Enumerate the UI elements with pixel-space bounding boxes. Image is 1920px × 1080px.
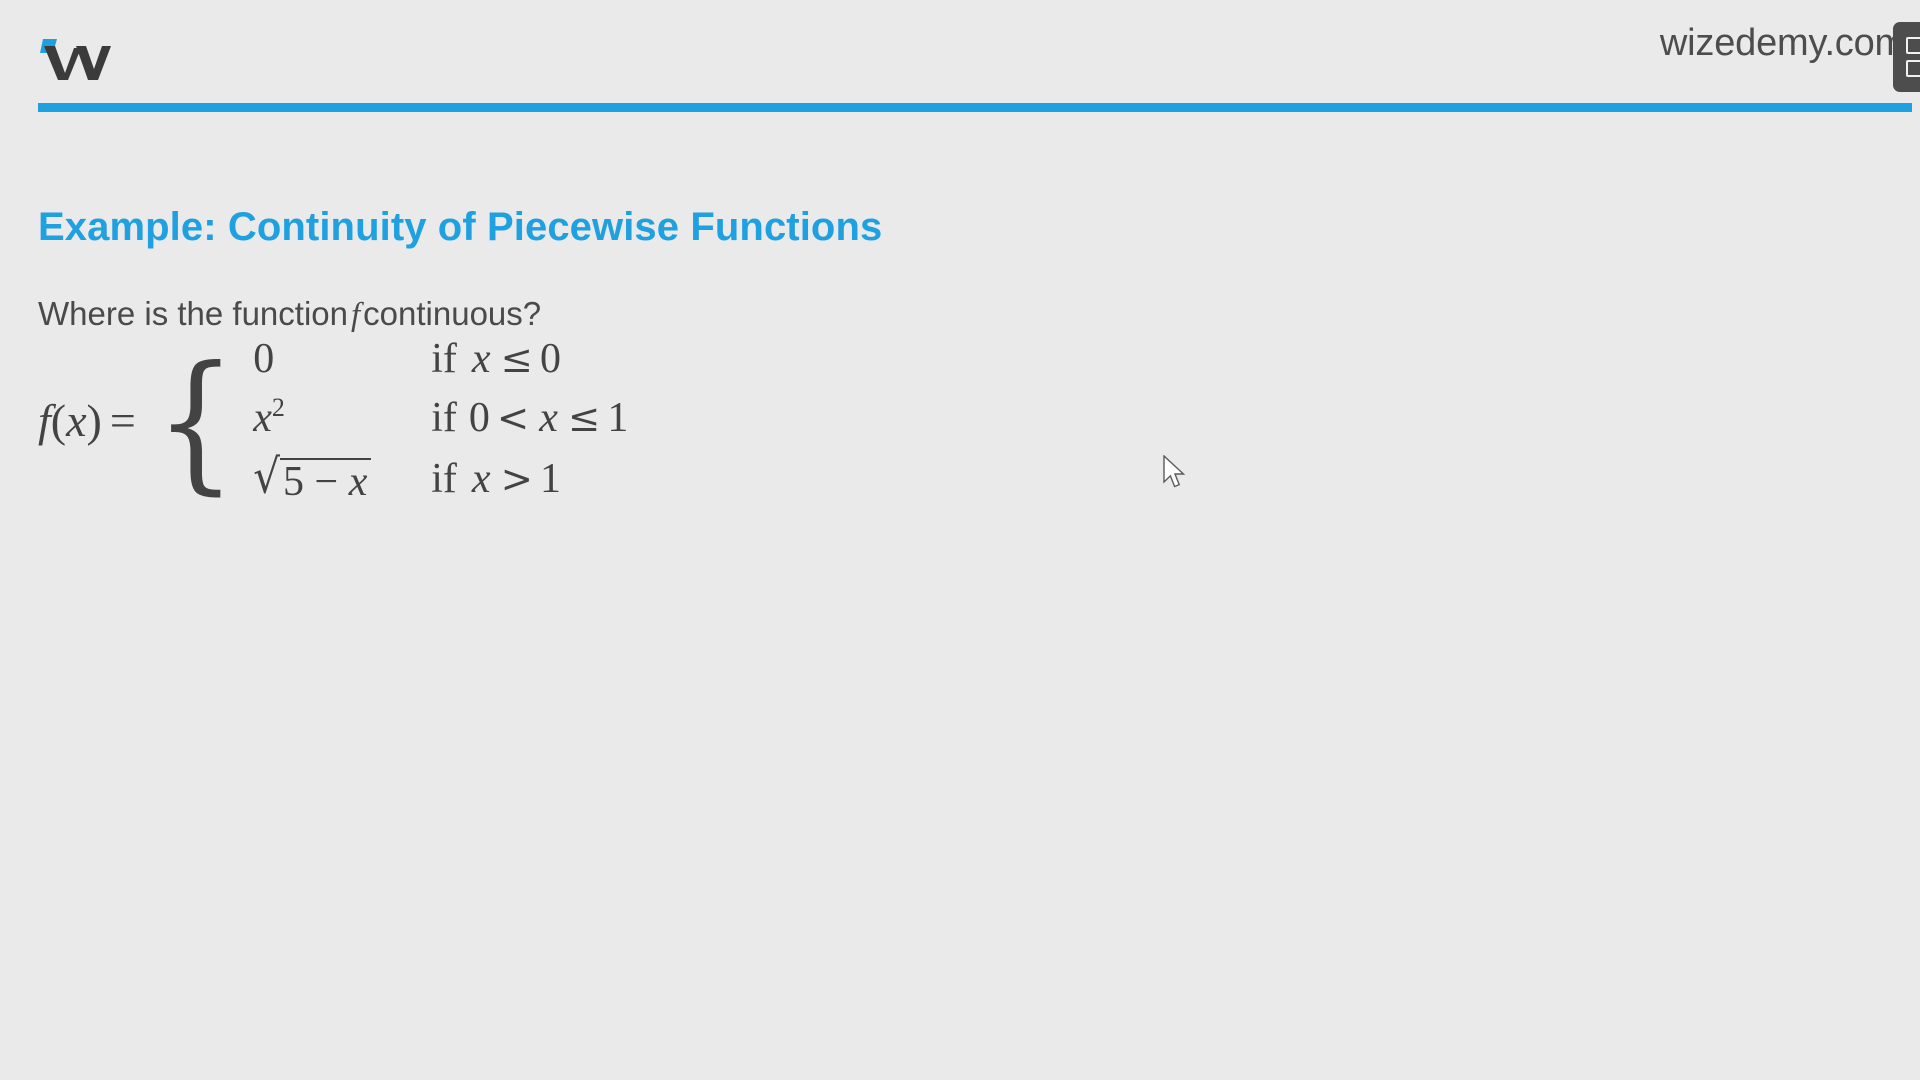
case-1-cond-variable: x <box>469 336 494 382</box>
case-3-cond-bound: 1 <box>540 456 561 502</box>
case-3-radicand-minus: − <box>315 459 339 505</box>
case-3-radicand-variable: x <box>349 459 368 505</box>
case-2-cond-upper: 1 <box>607 395 628 441</box>
piecewise-function-formula: f(x)= { 0 ifx≤0 x2 if0<x≤1 √ 5 <box>38 337 628 504</box>
square-root-expression: √ 5 − x <box>253 456 371 504</box>
equals-sign: = <box>102 395 144 446</box>
case-3-radicand-number: 5 <box>283 459 304 505</box>
list-menu-icon[interactable] <box>1893 22 1920 92</box>
case-2-cond-variable: x <box>536 395 561 441</box>
function-definition-lhs: f(x)= <box>38 394 148 447</box>
function-name: f <box>38 395 51 446</box>
case-3-cond-variable: x <box>469 456 494 502</box>
piecewise-cases: 0 ifx≤0 x2 if0<x≤1 √ 5 − x <box>245 337 628 504</box>
case-2-relation-lower: < <box>490 396 536 441</box>
case-2-cond-lower: 0 <box>469 395 490 441</box>
radicand: 5 − x <box>280 458 371 504</box>
case-1-relation: ≤ <box>494 337 540 382</box>
close-paren: ) <box>87 395 102 446</box>
slide-content: Example: Continuity of Piecewise Functio… <box>0 112 1920 1080</box>
case-condition: ifx>1 <box>431 457 628 502</box>
question-function-variable: f <box>348 297 363 333</box>
menu-icon-bar-bottom <box>1906 60 1920 77</box>
case-1-value: 0 <box>253 336 274 382</box>
header-accent-rule <box>38 103 1912 112</box>
case-2-value-exponent: 2 <box>272 393 285 422</box>
case-1-if-keyword: if <box>431 336 469 382</box>
page-title: Example: Continuity of Piecewise Functio… <box>38 205 882 250</box>
menu-icon-bar-top <box>1906 37 1920 54</box>
case-value: √ 5 − x <box>253 456 431 504</box>
case-3-if-keyword: if <box>431 456 469 502</box>
page-header: wizedemy.com <box>0 0 1920 112</box>
case-2-value-base: x <box>253 395 272 441</box>
case-2-relation-upper: ≤ <box>561 396 607 441</box>
question-prefix: Where is the function <box>38 295 348 332</box>
function-argument: x <box>66 395 86 446</box>
case-1-cond-bound: 0 <box>540 336 561 382</box>
wizedemy-logo[interactable] <box>38 36 112 80</box>
question-text: Where is the functionfcontinuous? <box>38 295 541 334</box>
open-paren: ( <box>51 395 66 446</box>
case-value: 0 <box>253 337 431 382</box>
radical-sign-icon: √ <box>253 453 280 507</box>
case-2-if-keyword: if <box>431 395 469 441</box>
case-value: x2 <box>253 396 431 441</box>
case-condition: if0<x≤1 <box>431 396 628 441</box>
case-3-relation: > <box>494 457 540 502</box>
question-suffix: continuous? <box>363 295 541 332</box>
site-url-label: wizedemy.com <box>1660 22 1906 65</box>
case-condition: ifx≤0 <box>431 337 628 382</box>
